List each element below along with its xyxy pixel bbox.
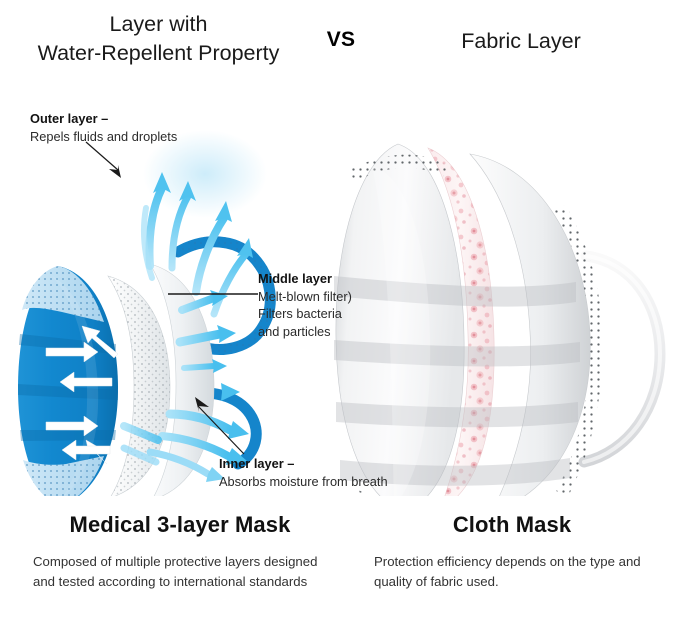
cloth-mask-illustration [334, 144, 660, 496]
header-left-title-line2: Water-Repellent Property [6, 39, 311, 68]
header-left-title: Layer with Water-Repellent Property [6, 10, 311, 68]
cloth-mask-footer-body: Protection efficiency depends on the typ… [374, 552, 664, 591]
callout-middle-layer-line3: and particles [258, 323, 352, 341]
callout-middle-layer-line1: Melt-blown filter) [258, 288, 352, 306]
medical-mask-footer-body-line1: Composed of multiple protective layers d… [33, 552, 353, 572]
header-left-title-line1: Layer with [6, 10, 311, 39]
callout-outer-layer: Outer layer – Repels fluids and droplets [30, 110, 177, 145]
callout-inner-layer: Inner layer – Absorbs moisture from brea… [219, 455, 388, 490]
callout-middle-layer: Middle layer Melt-blown filter) Filters … [258, 270, 352, 340]
cloth-mask-footer-body-line1: Protection efficiency depends on the typ… [374, 552, 664, 572]
cloth-mask-footer-body-line2: quality of fabric used. [374, 572, 664, 592]
callout-inner-layer-desc: Absorbs moisture from breath [219, 473, 388, 491]
medical-mask-illustration [18, 172, 270, 496]
medical-mask-footer-body: Composed of multiple protective layers d… [33, 552, 353, 591]
header-right-title: Fabric Layer [371, 27, 671, 56]
callout-middle-layer-line2: Filters bacteria [258, 305, 352, 323]
medical-mask-footer-title: Medical 3-layer Mask [10, 512, 350, 538]
vs-label: VS [311, 28, 371, 52]
callout-middle-layer-title: Middle layer [258, 270, 352, 288]
outer-layer-pleat-3 [20, 430, 116, 441]
header: Layer with Water-Repellent Property VS F… [0, 0, 679, 96]
callout-outer-layer-title: Outer layer – [30, 110, 177, 128]
callout-inner-layer-title: Inner layer – [219, 455, 388, 473]
cloth-mask-footer-title: Cloth Mask [352, 512, 672, 538]
medical-mask-footer-body-line2: and tested according to international st… [33, 572, 353, 592]
callout-outer-layer-desc: Repels fluids and droplets [30, 128, 177, 146]
outer-layer-leader-line [86, 142, 118, 170]
